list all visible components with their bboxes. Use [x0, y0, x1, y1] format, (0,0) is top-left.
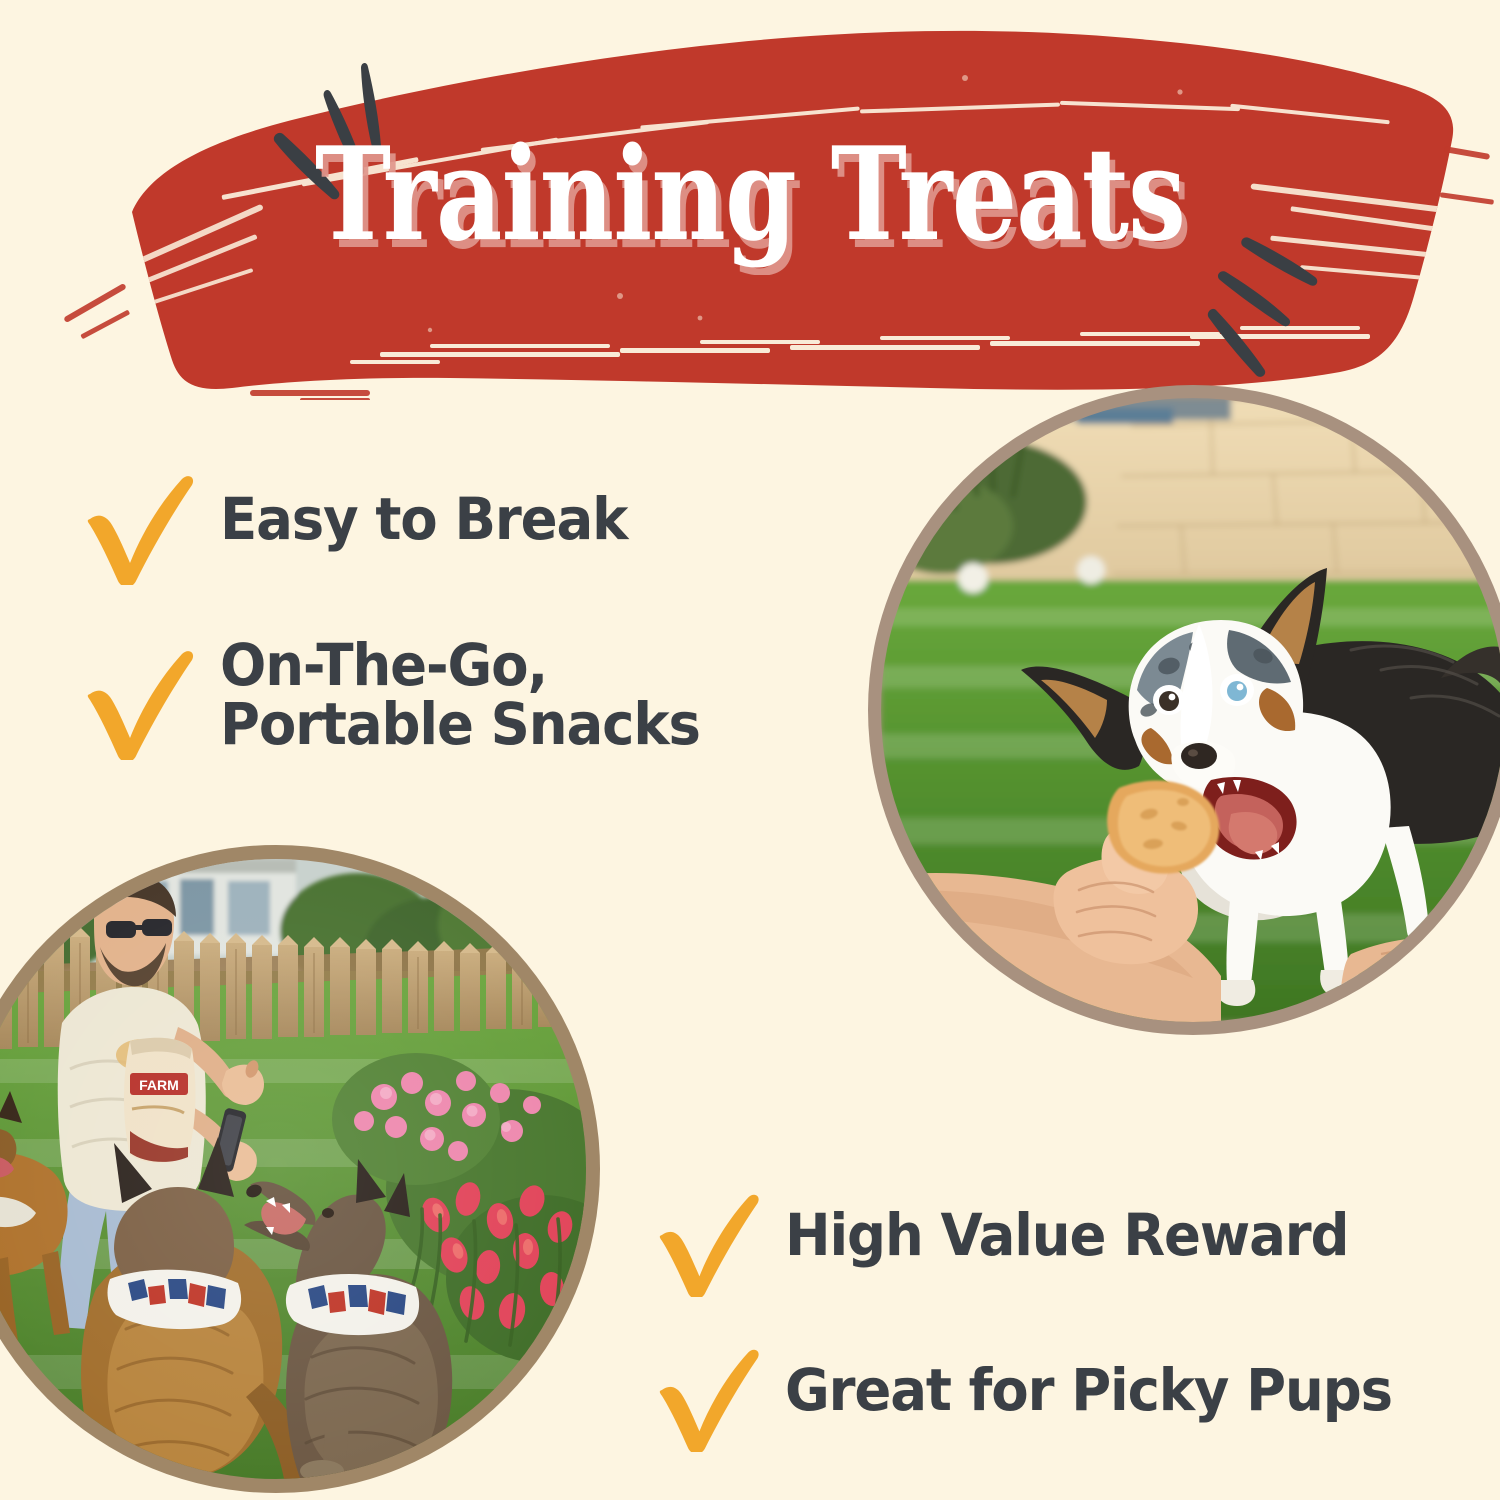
photo-image-yard-training: FARM: [0, 859, 586, 1479]
header-banner: Training Treats: [0, 0, 1500, 400]
training-treats-poster: Training Treats: [0, 0, 1500, 1500]
feature-label-high-value: High Value Reward: [785, 1206, 1348, 1265]
backyard-training-scene: FARM: [0, 859, 586, 1479]
feature-item-high-value: High Value Reward: [645, 1175, 1384, 1297]
feature-label-easy-break: Easy to Break: [220, 490, 627, 549]
feature-item-picky-pups: Great for Picky Pups: [645, 1330, 1431, 1452]
dog-catching-treat-photo: [868, 385, 1500, 1035]
feature-item-easy-break: Easy to Break: [72, 455, 653, 585]
brush-stroke-shape: [0, 0, 1500, 400]
feature-label-on-the-go: On-The-Go, Portable Snacks: [220, 636, 700, 754]
check-icon: [645, 1330, 767, 1452]
check-icon: [72, 455, 202, 585]
feature-item-on-the-go: On-The-Go, Portable Snacks: [72, 630, 730, 760]
check-icon: [72, 630, 202, 760]
feature-label-picky-pups: Great for Picky Pups: [785, 1361, 1392, 1420]
check-icon: [645, 1175, 767, 1297]
photo-image-dog-treat: [881, 398, 1500, 1022]
dog-treat-scene: [881, 398, 1500, 1022]
backyard-training-photo: FARM: [0, 845, 600, 1493]
